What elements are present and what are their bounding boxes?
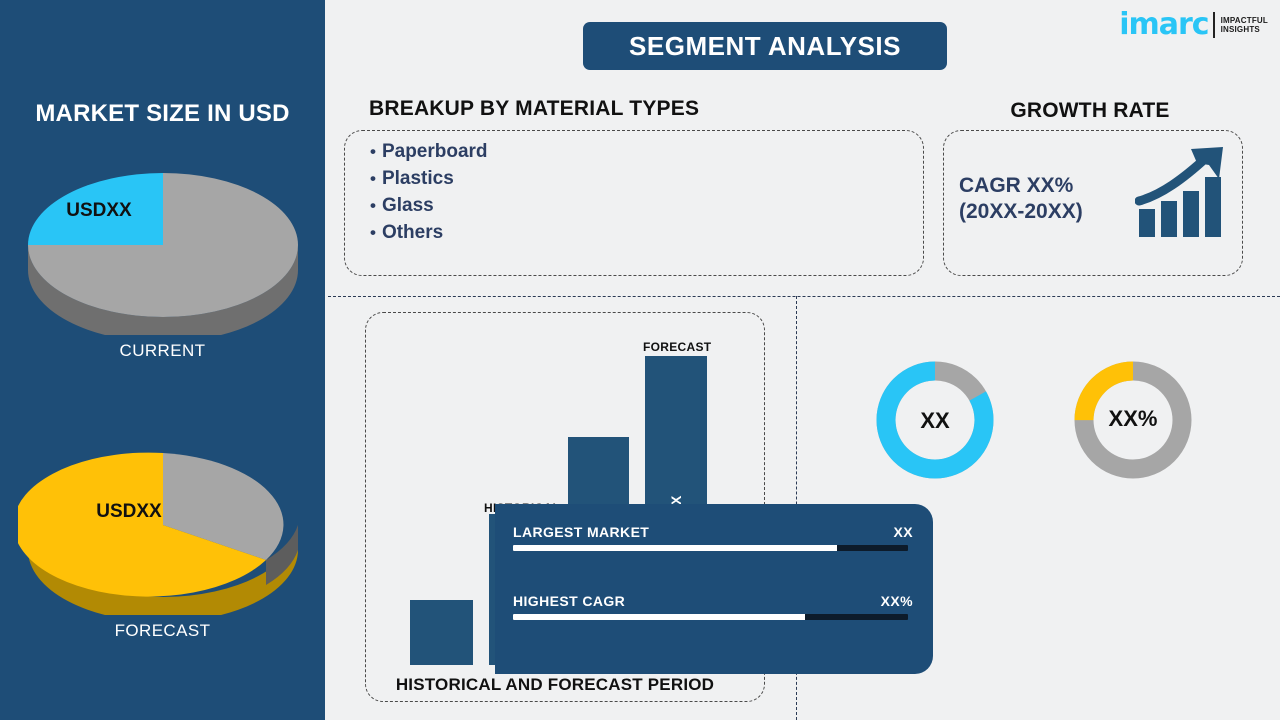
- metric-progress-track: [513, 545, 908, 551]
- infographic-root: MARKET SIZE IN USD USDXX CURRENT: [0, 0, 1280, 720]
- metric-value: XX%: [881, 593, 913, 609]
- metric-value: XX: [894, 524, 913, 540]
- metric-progress-fill: [513, 545, 837, 551]
- metric-label: LARGEST MARKET: [513, 524, 649, 540]
- metric-header: HIGHEST CAGR XX%: [513, 593, 913, 609]
- bar-chart-axis-label: HISTORICAL AND FORECAST PERIOD: [365, 675, 745, 695]
- donut-1-center-label: XX: [875, 408, 995, 434]
- bar-1: [410, 600, 473, 665]
- metric-largest-market: LARGEST MARKET XX: [513, 524, 913, 551]
- metric-progress-track: [513, 614, 908, 620]
- key-metrics-panel: LARGEST MARKET XX HIGHEST CAGR XX%: [495, 504, 933, 674]
- metric-label: HIGHEST CAGR: [513, 593, 625, 609]
- metric-header: LARGEST MARKET XX: [513, 524, 913, 540]
- metric-highest-cagr: HIGHEST CAGR XX%: [513, 593, 913, 620]
- metric-progress-fill: [513, 614, 805, 620]
- bar-annotation-forecast: FORECAST: [643, 340, 711, 354]
- donut-2-center-label: XX%: [1073, 406, 1193, 432]
